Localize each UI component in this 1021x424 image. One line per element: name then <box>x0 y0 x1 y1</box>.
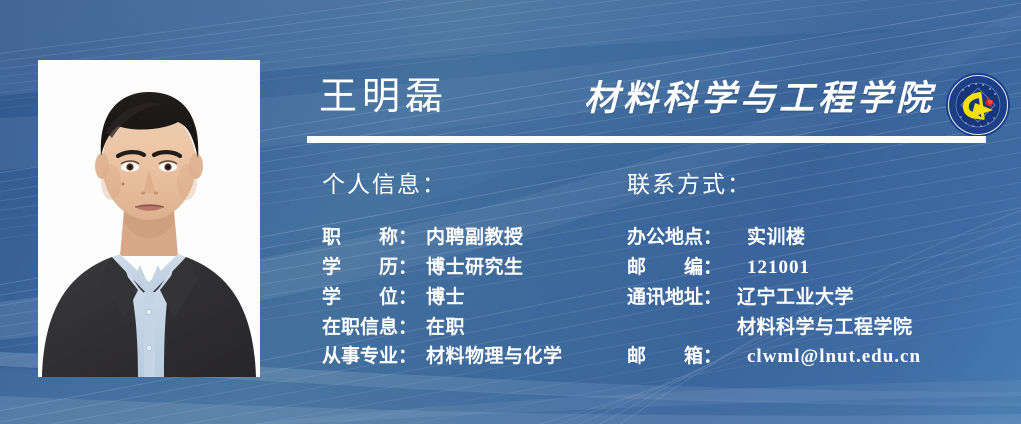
email-value: clwml@lnut.edu.cn <box>737 346 921 368</box>
page-title: 王明磊 <box>319 72 448 122</box>
info-label: 在职信息： <box>322 312 426 339</box>
info-value: 博士 <box>426 282 465 309</box>
list-item: 职 称： 内聘副教授 <box>322 222 622 252</box>
info-label: 学 位： <box>322 282 426 309</box>
list-item: 从事专业： 材料物理与化学 <box>322 341 622 370</box>
list-item: 邮 箱： clwml@lnut.edu.cn <box>627 341 957 370</box>
info-label: 邮 箱： <box>627 341 737 368</box>
contact-info-heading: 联系方式： <box>627 170 752 200</box>
list-item: 邮 编： 121001 <box>627 252 957 282</box>
portrait-photo <box>38 60 260 377</box>
list-item: 在职信息： 在职 <box>322 312 622 341</box>
info-value: 实训楼 <box>737 222 806 249</box>
college-name: 材料科学与工程学院 <box>584 74 935 124</box>
info-value: 博士研究生 <box>426 252 524 279</box>
info-value: 材料科学与工程学院 <box>737 312 913 339</box>
university-emblem-icon <box>945 72 1011 138</box>
info-label: 职 称： <box>322 222 426 249</box>
list-item: 办公地点： 实训楼 <box>627 222 957 252</box>
faculty-profile-banner: 王明磊 材料科学与工程学院 <box>0 0 1021 424</box>
info-label: 通讯地址： <box>627 282 737 309</box>
info-label: 从事专业： <box>322 341 426 368</box>
personal-info-heading: 个人信息： <box>322 170 447 200</box>
info-label: 邮 编： <box>627 252 737 279</box>
list-item: 材料科学与工程学院 <box>627 312 957 341</box>
list-item: 学 位： 博士 <box>322 282 622 312</box>
header-divider <box>307 136 986 143</box>
info-value: 在职 <box>426 312 465 339</box>
postal-code-value: 121001 <box>737 257 810 279</box>
info-value: 材料物理与化学 <box>426 341 563 368</box>
info-label: 办公地点： <box>627 222 737 249</box>
banner-header: 王明磊 材料科学与工程学院 <box>307 72 987 134</box>
info-label: 学 历： <box>322 252 426 279</box>
info-value: 辽宁工业大学 <box>737 282 854 309</box>
list-item: 通讯地址： 辽宁工业大学 <box>627 282 957 312</box>
list-item: 学 历： 博士研究生 <box>322 252 622 282</box>
contact-info-list: 办公地点： 实训楼 邮 编： 121001 通讯地址： 辽宁工业大学 材料科学与… <box>627 222 957 370</box>
info-value: 内聘副教授 <box>426 222 524 249</box>
personal-info-list: 职 称： 内聘副教授 学 历： 博士研究生 学 位： 博士 在职信息： 在职 从… <box>322 222 622 370</box>
